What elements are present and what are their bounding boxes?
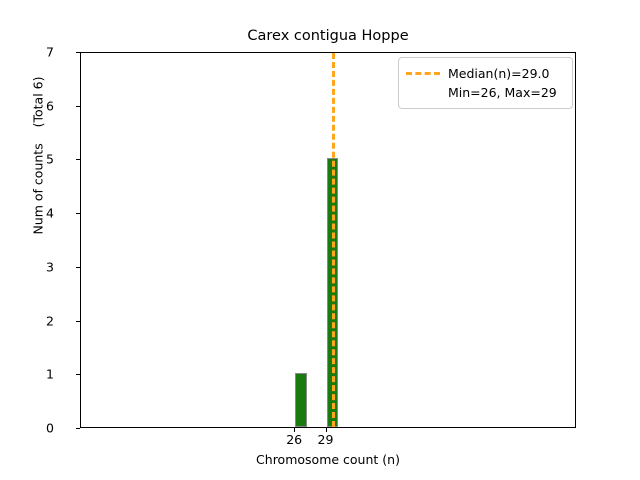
chart-title: Carex contigua Hoppe	[80, 28, 576, 44]
bar-26[interactable]	[295, 373, 306, 427]
y-axis-label: Num of counts (Total 6)	[31, 0, 46, 336]
y-axis-label-line2: (Total 6)	[31, 77, 46, 128]
legend-entry-median: Median(n)=29.0	[406, 64, 565, 83]
y-axis-label-line1: Num of counts	[31, 143, 46, 234]
legend-entry-minmax: Min=26, Max=29	[406, 83, 565, 102]
x-axis-label: Chromosome count (n)	[80, 452, 576, 467]
y-tick-label-1: 1	[14, 367, 54, 382]
median-line	[332, 53, 335, 427]
legend-label-median: Median(n)=29.0	[448, 66, 549, 81]
y-tick-label-0: 0	[14, 421, 54, 436]
x-tick-label-29: 29	[296, 432, 356, 447]
y-tick-mark-0	[76, 428, 80, 429]
plot-inner	[81, 53, 575, 427]
legend-label-minmax: Min=26, Max=29	[448, 85, 557, 100]
chart-legend: Median(n)=29.0 Min=26, Max=29	[398, 57, 573, 109]
chart-figure: Carex contigua Hoppe 0 1 2 3 4 5 6 7 Num…	[0, 0, 640, 480]
dashed-line-icon	[406, 72, 440, 75]
